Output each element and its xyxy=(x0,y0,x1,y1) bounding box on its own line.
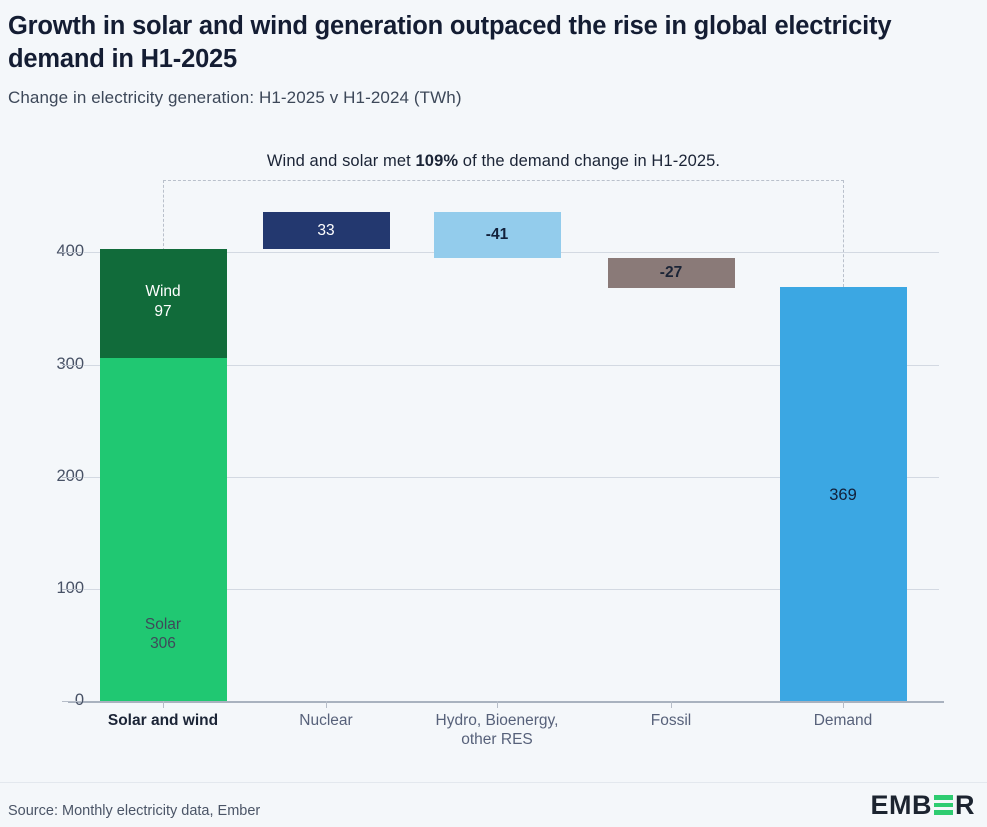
bar-fossil[interactable]: -27 xyxy=(608,258,735,288)
annotation-highlight: 109% xyxy=(416,152,459,170)
annotation-prefix: Wind and solar met xyxy=(267,152,416,170)
chart-plot-area: Wind and solar met 109% of the demand ch… xyxy=(0,0,987,827)
source-note: Source: Monthly electricity data, Ember xyxy=(8,803,260,819)
bar-value-label: 33 xyxy=(263,221,390,240)
x-axis-label-demand: Demand xyxy=(753,711,933,730)
ember-logo: EMB R xyxy=(871,792,976,818)
x-axis-label-line: Fossil xyxy=(581,711,761,730)
x-tick-mark xyxy=(843,701,844,708)
bar-value: 97 xyxy=(100,302,227,321)
y-tick-mark xyxy=(62,252,82,253)
x-tick-mark xyxy=(671,701,672,708)
bar-value: 369 xyxy=(780,485,907,506)
bar-series-name: Solar xyxy=(100,615,227,634)
footer-divider xyxy=(0,782,987,783)
bracket-top-line xyxy=(163,180,844,181)
x-axis-label-line: Demand xyxy=(753,711,933,730)
x-axis-label-nuclear: Nuclear xyxy=(236,711,416,730)
x-axis-label-hydro: Hydro, Bioenergy,other RES xyxy=(407,711,587,750)
bar-value-label: Wind97 xyxy=(100,282,227,321)
x-axis-label-solar-and-wind: Solar and wind xyxy=(73,711,253,730)
gridline-0 xyxy=(68,701,944,703)
bar-nuclear[interactable]: 33 xyxy=(263,212,390,249)
logo-text-right: R xyxy=(955,790,975,821)
x-axis-label-line: other RES xyxy=(407,730,587,749)
y-tick-mark xyxy=(62,589,82,590)
bar-value-label: Solar306 xyxy=(100,615,227,654)
chart-annotation: Wind and solar met 109% of the demand ch… xyxy=(0,152,987,171)
bar-series-name: Wind xyxy=(100,282,227,301)
bracket-right-leg xyxy=(843,180,844,287)
bracket-left-leg xyxy=(163,180,164,251)
bar-hydro[interactable]: -41 xyxy=(434,212,561,258)
bar-solar[interactable]: Solar306 xyxy=(100,358,227,701)
y-tick-mark xyxy=(62,477,82,478)
x-tick-mark xyxy=(497,701,498,708)
y-tick-mark xyxy=(62,365,82,366)
x-axis-label-fossil: Fossil xyxy=(581,711,761,730)
x-axis-label-line: Nuclear xyxy=(236,711,416,730)
logo-text-left: EMB xyxy=(871,790,933,821)
y-tick-mark xyxy=(62,701,82,702)
logo-e-icon xyxy=(934,795,953,815)
bar-value-label: -27 xyxy=(608,263,735,282)
bar-demand[interactable]: 369 xyxy=(780,287,907,701)
bar-value-label: 369 xyxy=(780,485,907,506)
annotation-suffix: of the demand change in H1-2025. xyxy=(458,152,720,170)
x-tick-mark xyxy=(326,701,327,708)
bar-value-label: -41 xyxy=(434,225,561,244)
bar-value: 306 xyxy=(100,634,227,653)
x-tick-mark xyxy=(163,701,164,708)
bar-wind[interactable]: Wind97 xyxy=(100,249,227,358)
x-axis-label-line: Solar and wind xyxy=(73,711,253,730)
x-axis-label-line: Hydro, Bioenergy, xyxy=(407,711,587,730)
